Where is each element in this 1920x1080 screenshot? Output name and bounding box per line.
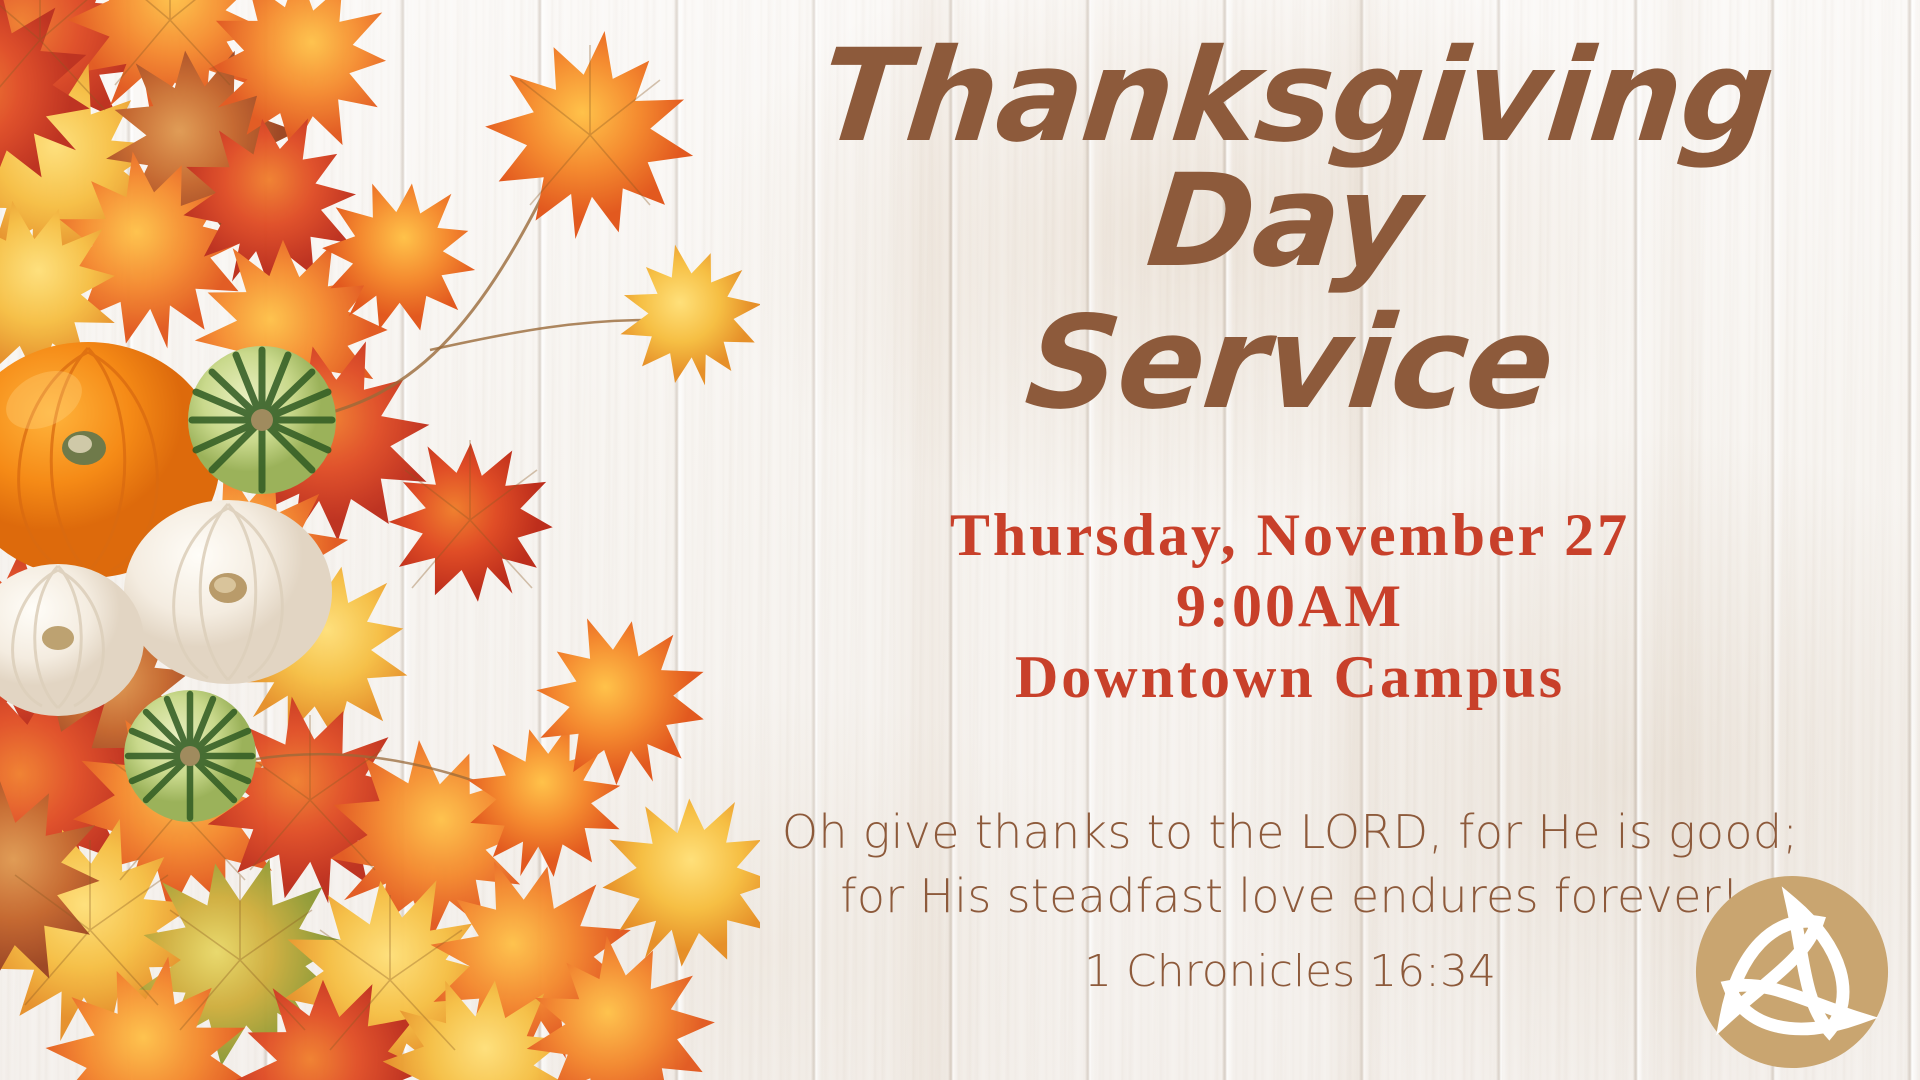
event-location: Downtown Campus	[700, 642, 1880, 713]
event-time: 9:00AM	[700, 571, 1880, 642]
verse-line-1: Oh give thanks to the LORD, for He is go…	[700, 800, 1880, 864]
triquetra-logo	[1694, 874, 1890, 1070]
page-title: Thanksgiving Day Service	[700, 34, 1880, 426]
title-line-1: Thanksgiving Day	[687, 34, 1893, 285]
event-date: Thursday, November 27	[700, 500, 1880, 571]
thanksgiving-service-flyer: Thanksgiving Day Service Thursday, Novem…	[0, 0, 1920, 1080]
title-line-2: Service	[693, 301, 1886, 426]
event-details: Thursday, November 27 9:00AM Downtown Ca…	[700, 500, 1880, 712]
